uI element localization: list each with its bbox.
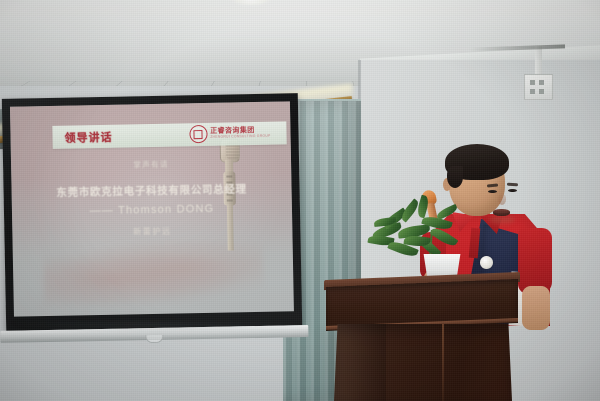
lapel-badge (480, 256, 493, 269)
plant-leaf (416, 195, 431, 219)
eye-right (508, 189, 517, 192)
chin-shading (489, 216, 515, 224)
screen-drop-shadow (10, 322, 302, 332)
photo-scene: 领导讲话 正睿咨询集团 ZHENGRUI CONSULTING GROUP 掌声… (0, 0, 600, 401)
eye-left (488, 190, 497, 193)
right-sleeve (518, 228, 552, 294)
slide: 领导讲话 正睿咨询集团 ZHENGRUI CONSULTING GROUP 掌声… (10, 101, 294, 316)
projection-screen[interactable]: 领导讲话 正睿咨询集团 ZHENGRUI CONSULTING GROUP 掌声… (2, 93, 302, 331)
wall-power-outlet[interactable] (524, 74, 553, 100)
potted-plant (368, 196, 476, 282)
eyebrow-right (507, 183, 518, 186)
podium-seam (442, 324, 444, 401)
screen-surface: 领导讲话 正睿咨询集团 ZHENGRUI CONSULTING GROUP 掌声… (10, 101, 294, 316)
eyebrow-left (487, 184, 498, 188)
hair (445, 144, 509, 180)
slide-header: 领导讲话 正睿咨询集团 ZHENGRUI CONSULTING GROUP (52, 121, 286, 148)
company-logo: 正睿咨询集团 ZHENGRUI CONSULTING GROUP (189, 124, 271, 144)
podium-left-facet (334, 324, 386, 401)
plant-leaf (435, 204, 458, 220)
company-logo-en: ZHENGRUI CONSULTING GROUP (210, 135, 270, 140)
mouth (493, 209, 510, 216)
slide-header-title: 领导讲话 (64, 128, 112, 145)
nose (498, 194, 506, 205)
company-seal-logo-icon (189, 125, 207, 143)
right-arm (522, 286, 550, 330)
